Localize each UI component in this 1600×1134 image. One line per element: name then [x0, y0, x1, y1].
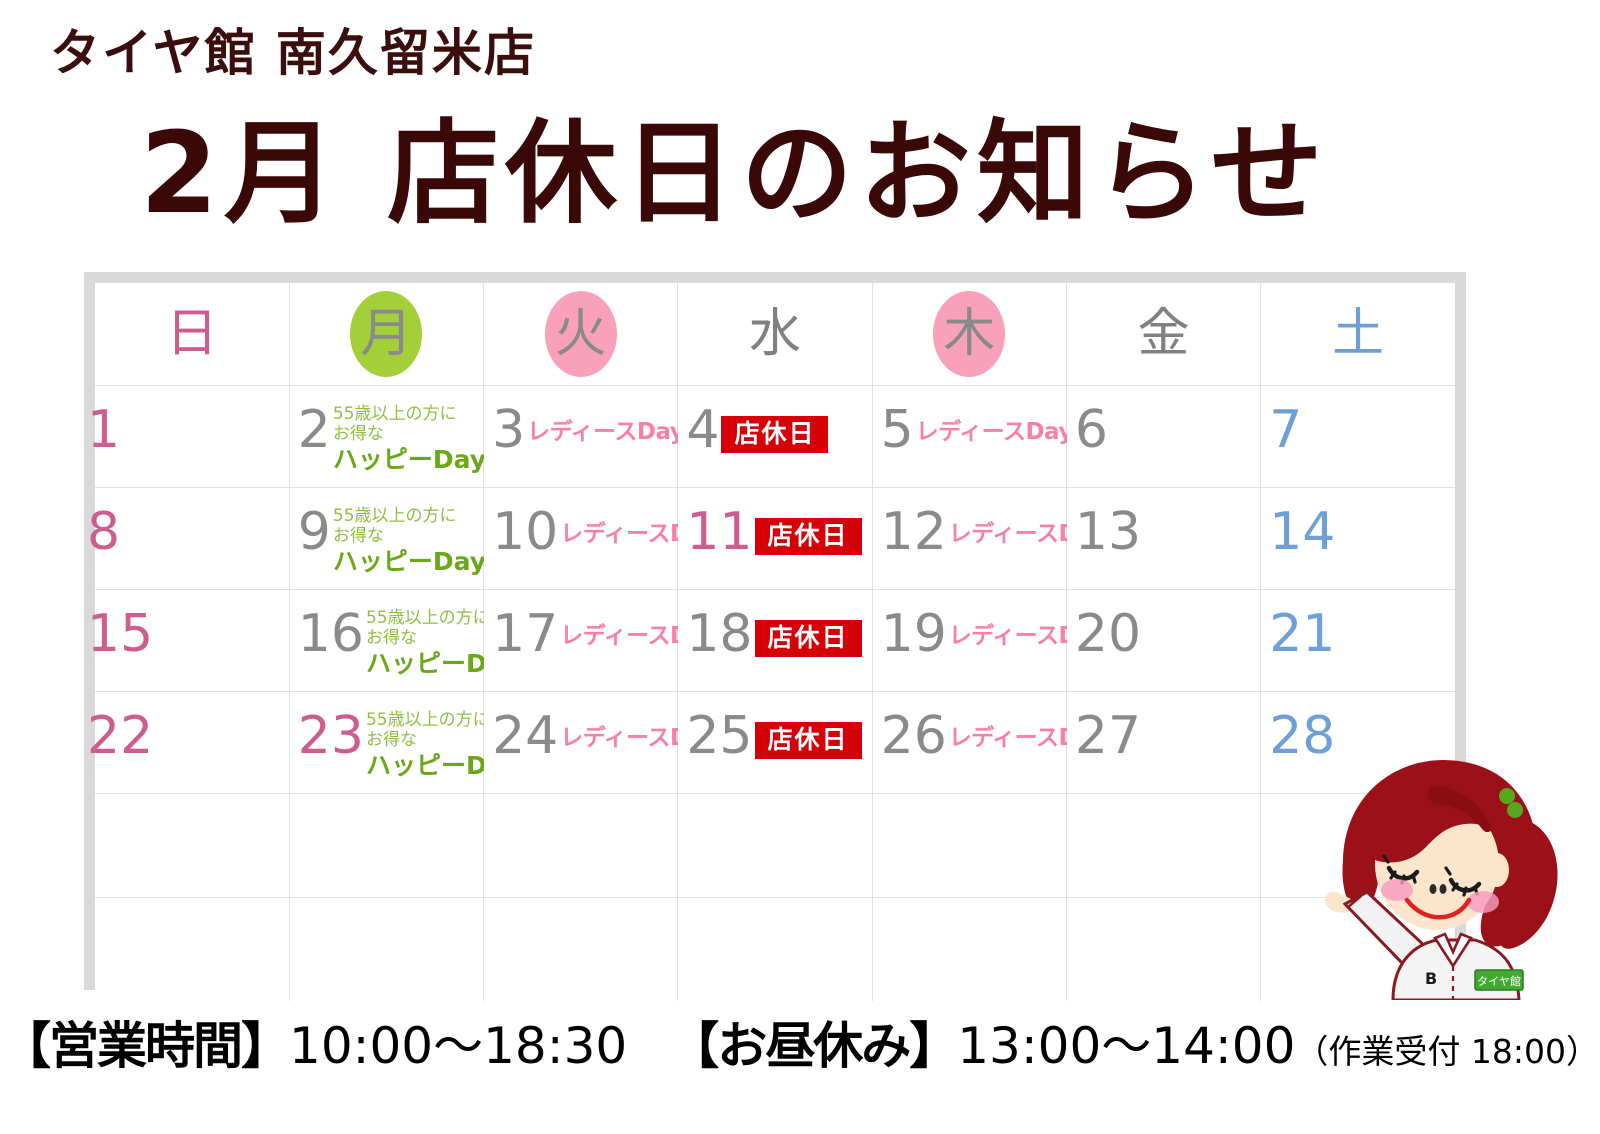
calendar-day-cell: 1 [95, 386, 289, 488]
closed-day-badge: 店休日 [755, 722, 862, 759]
day-number: 8 [87, 504, 120, 560]
mascot-name-tag [1475, 970, 1523, 990]
day-note [1141, 708, 1260, 710]
calendar-day-cell: 20 [1066, 590, 1260, 692]
calendar-day-cell: 8 [95, 488, 289, 590]
weekday-label-木: 木 [933, 291, 1005, 377]
day-note: 店休日 [753, 504, 872, 555]
calendar-day-cell: 15 [95, 590, 289, 692]
store-name: タイヤ館 南久留米店 [50, 28, 536, 78]
day-cell-inner: 255歳以上の方にお得なハッピーDay [290, 386, 483, 487]
calendar-day-cell: 24レディースDay♥ [484, 692, 678, 794]
day-number: 3 [492, 402, 525, 458]
day-number: 7 [1269, 402, 1302, 458]
calendar-day-cell [872, 898, 1066, 1002]
calendar-week-row: 8955歳以上の方にお得なハッピーDay10レディースDay♥11店休日12レデ… [95, 488, 1455, 590]
day-note: 店休日 [719, 402, 871, 453]
calendar-day-cell: 22 [95, 692, 289, 794]
calendar-day-cell: 3レディースDay♥ [484, 386, 678, 488]
happy-day-title: ハッピーDay [333, 445, 492, 475]
weekday-label-土: 土 [1319, 295, 1397, 373]
day-note [1141, 504, 1260, 506]
weekday-header-5: 金 [1066, 283, 1260, 386]
ladies-day-label: レディースDay [916, 419, 1073, 445]
hair-tie-bead-icon [1499, 788, 1515, 804]
happy-day-subtext: 55歳以上の方に [333, 506, 492, 526]
weekday-header-0: 日 [95, 283, 289, 386]
calendar-day-cell [678, 794, 872, 898]
day-cell-inner: 3レディースDay♥ [484, 386, 677, 487]
day-cell-inner: 1655歳以上の方にお得なハッピーDay [290, 590, 483, 691]
day-number: 24 [492, 708, 558, 764]
day-cell-inner: 11店休日 [678, 488, 871, 589]
lunch-break-label: 【お昼休み】 [669, 1017, 957, 1075]
calendar-day-cell [289, 794, 483, 898]
happy-day-subtext: お得な [333, 526, 492, 546]
page-title: 2月 店休日のお知らせ [140, 110, 1329, 239]
day-note [153, 606, 289, 608]
day-note [1141, 606, 1260, 608]
day-note [153, 708, 289, 710]
calendar-day-cell [95, 898, 289, 1002]
calendar-day-cell [1066, 898, 1260, 1002]
day-number: 14 [1269, 504, 1335, 560]
day-number: 18 [686, 606, 752, 662]
footer-hours: 【営業時間】10:00〜18:30【お昼休み】13:00〜14:00（作業受付 … [0, 1006, 1600, 1078]
day-note: レディースDay♥ [525, 402, 702, 460]
calendar-day-cell: 18店休日 [678, 590, 872, 692]
day-cell-inner: 6 [1067, 386, 1260, 487]
day-note [120, 402, 289, 404]
calendar-day-cell: 6 [1066, 386, 1260, 488]
day-cell-inner: 12レディースDay♥ [873, 488, 1066, 589]
calendar-day-cell: 26レディースDay♥ [872, 692, 1066, 794]
weekday-header-row: 日月火水木金土 [95, 283, 1455, 386]
day-number: 10 [492, 504, 558, 560]
weekday-label-水: 水 [736, 295, 814, 373]
day-number: 19 [881, 606, 947, 662]
day-cell-inner: 27 [1067, 692, 1260, 793]
day-cell-inner: 28 [1261, 692, 1455, 793]
day-cell-inner: 21 [1261, 590, 1455, 691]
day-number: 25 [686, 708, 752, 764]
calendar-day-cell [1261, 794, 1455, 898]
day-number: 4 [686, 402, 719, 458]
calendar-day-cell [289, 898, 483, 1002]
calendar-day-cell [1261, 898, 1455, 1002]
weekday-label-日: 日 [153, 295, 231, 373]
day-note: 店休日 [753, 606, 872, 657]
weekday-label-月: 月 [350, 291, 422, 377]
calendar-day-cell: 2355歳以上の方にお得なハッピーDay [289, 692, 483, 794]
day-number: 5 [881, 402, 914, 458]
calendar-day-cell [484, 898, 678, 1002]
day-cell-inner: 15 [95, 590, 289, 691]
calendar-day-cell: 7 [1261, 386, 1455, 488]
weekday-header-2: 火 [484, 283, 678, 386]
day-number: 15 [87, 606, 153, 662]
day-cell-inner: 13 [1067, 488, 1260, 589]
weekday-label-金: 金 [1125, 295, 1203, 373]
day-note [1302, 402, 1455, 404]
happy-day-subtext: 55歳以上の方に [333, 404, 492, 424]
mascot-name-tag-label: タイヤ館 [1477, 975, 1521, 988]
day-note: 55歳以上の方にお得なハッピーDay [331, 504, 492, 577]
day-number: 17 [492, 606, 558, 662]
mascot-ear [1485, 853, 1509, 887]
day-cell-inner: 8 [95, 488, 289, 589]
calendar-table: 日月火水木金土 1255歳以上の方にお得なハッピーDay3レディースDay♥4店… [95, 283, 1455, 1001]
calendar-day-cell: 1655歳以上の方にお得なハッピーDay [289, 590, 483, 692]
mascot-cheek-right [1467, 891, 1499, 913]
calendar-empty-row [95, 898, 1455, 1002]
day-cell-inner: 7 [1261, 386, 1455, 487]
calendar-day-cell [95, 794, 289, 898]
day-number: 23 [298, 708, 364, 764]
calendar-week-row: 1255歳以上の方にお得なハッピーDay3レディースDay♥4店休日5レディース… [95, 386, 1455, 488]
ladies-day-promo: レディースDay♥ [916, 404, 1091, 460]
closed-day-badge: 店休日 [755, 620, 862, 657]
calendar-day-cell: 25店休日 [678, 692, 872, 794]
calendar-day-cell [1066, 794, 1260, 898]
business-hours-value: 10:00〜18:30 [289, 1017, 627, 1075]
calendar-day-cell: 14 [1261, 488, 1455, 590]
day-cell-inner: 2355歳以上の方にお得なハッピーDay [290, 692, 483, 793]
day-cell-inner: 955歳以上の方にお得なハッピーDay [290, 488, 483, 589]
day-number: 11 [686, 504, 752, 560]
day-cell-inner: 4店休日 [678, 386, 871, 487]
calendar-day-cell: 28 [1261, 692, 1455, 794]
day-cell-inner: 18店休日 [678, 590, 871, 691]
day-note [1335, 606, 1455, 608]
day-cell-inner: 20 [1067, 590, 1260, 691]
day-cell-inner: 17レディースDay♥ [484, 590, 677, 691]
day-number: 26 [881, 708, 947, 764]
calendar-day-cell: 27 [1066, 692, 1260, 794]
calendar-day-cell: 10レディースDay♥ [484, 488, 678, 590]
day-cell-inner: 14 [1261, 488, 1455, 589]
day-note [1335, 708, 1455, 710]
calendar-empty-row [95, 794, 1455, 898]
day-number: 22 [87, 708, 153, 764]
calendar-day-cell: 11店休日 [678, 488, 872, 590]
calendar-day-cell: 5レディースDay♥ [872, 386, 1066, 488]
calendar-day-cell [872, 794, 1066, 898]
day-cell-inner: 25店休日 [678, 692, 871, 793]
day-note [120, 504, 289, 506]
weekday-header-4: 木 [872, 283, 1066, 386]
day-number: 2 [298, 402, 331, 458]
day-cell-inner: 10レディースDay♥ [484, 488, 677, 589]
day-note: 55歳以上の方にお得なハッピーDay [331, 402, 492, 475]
ladies-day-label: レディースDay [527, 419, 684, 445]
day-note: 店休日 [753, 708, 872, 759]
day-number: 27 [1075, 708, 1141, 764]
day-cell-inner: 24レディースDay♥ [484, 692, 677, 793]
calendar-day-cell: 21 [1261, 590, 1455, 692]
business-hours-label: 【営業時間】 [1, 1017, 289, 1075]
calendar-week-row: 222355歳以上の方にお得なハッピーDay24レディースDay♥25店休日26… [95, 692, 1455, 794]
happy-day-promo: 55歳以上の方にお得なハッピーDay [333, 404, 492, 475]
day-number: 20 [1075, 606, 1141, 662]
happy-day-promo: 55歳以上の方にお得なハッピーDay [333, 506, 492, 577]
day-note [1335, 504, 1455, 506]
day-cell-inner: 5レディースDay♥ [873, 386, 1066, 487]
day-cell-inner: 1 [95, 386, 289, 487]
calendar-day-cell: 4店休日 [678, 386, 872, 488]
day-cell-inner: 26レディースDay♥ [873, 692, 1066, 793]
happy-day-subtext: お得な [333, 424, 492, 444]
weekday-header-1: 月 [289, 283, 483, 386]
day-note: レディースDay♥ [914, 402, 1091, 460]
calendar-frame: 日月火水木金土 1255歳以上の方にお得なハッピーDay3レディースDay♥4店… [84, 272, 1466, 990]
day-cell-inner: 19レディースDay♥ [873, 590, 1066, 691]
calendar-day-cell [484, 794, 678, 898]
calendar-week-row: 151655歳以上の方にお得なハッピーDay17レディースDay♥18店休日19… [95, 590, 1455, 692]
calendar-day-cell: 13 [1066, 488, 1260, 590]
weekday-header-3: 水 [678, 283, 872, 386]
calendar-day-cell: 19レディースDay♥ [872, 590, 1066, 692]
day-note [1108, 402, 1260, 404]
day-number: 12 [881, 504, 947, 560]
day-number: 21 [1269, 606, 1335, 662]
reception-note: （作業受付 18:00） [1295, 1032, 1599, 1071]
calendar-day-cell: 955歳以上の方にお得なハッピーDay [289, 488, 483, 590]
day-number: 28 [1269, 708, 1335, 764]
happy-day-title: ハッピーDay [333, 547, 492, 577]
calendar-day-cell: 12レディースDay♥ [872, 488, 1066, 590]
hair-tie-bead-icon [1507, 802, 1523, 818]
day-number: 6 [1075, 402, 1108, 458]
closed-day-badge: 店休日 [721, 416, 828, 453]
mascot-ponytail [1499, 818, 1557, 949]
calendar-day-cell: 17レディースDay♥ [484, 590, 678, 692]
day-number: 1 [87, 402, 120, 458]
day-number: 9 [298, 504, 331, 560]
day-number: 13 [1075, 504, 1141, 560]
day-cell-inner: 22 [95, 692, 289, 793]
ladies-day-promo: レディースDay♥ [527, 404, 702, 460]
calendar-day-cell: 255歳以上の方にお得なハッピーDay [289, 386, 483, 488]
day-number: 16 [298, 606, 364, 662]
closed-day-badge: 店休日 [755, 518, 862, 555]
calendar-day-cell [678, 898, 872, 1002]
weekday-header-6: 土 [1261, 283, 1455, 386]
lunch-break-value: 13:00〜14:00 [957, 1017, 1295, 1075]
weekday-label-火: 火 [545, 291, 617, 377]
